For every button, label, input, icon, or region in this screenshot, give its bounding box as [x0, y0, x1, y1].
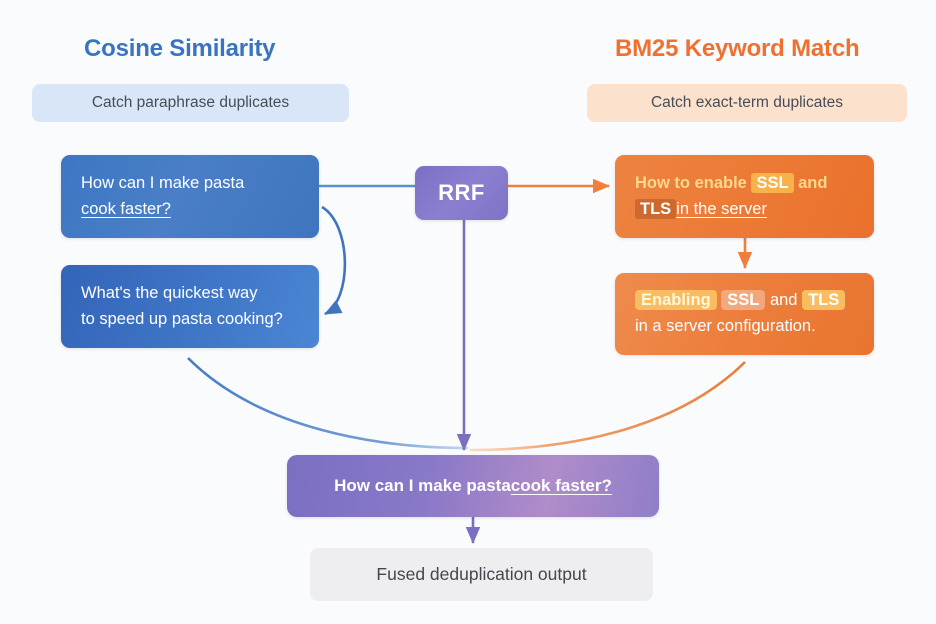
query-1-line-1: How can I make pasta: [81, 171, 299, 197]
fused-text-underlined: cook faster?: [511, 473, 612, 499]
doc-2-conjunction: and: [770, 291, 798, 309]
node-query-1[interactable]: How can I make pasta cook faster?: [61, 155, 319, 238]
node-doc-2[interactable]: Enabling SSL and TLS in a server configu…: [615, 273, 874, 355]
rrf-label: RRF: [438, 176, 485, 210]
doc-2-word-enabling: Enabling: [635, 290, 717, 310]
subtitle-pill-cosine: Catch paraphrase duplicates: [32, 84, 349, 122]
column-title-bm25: BM25 Keyword Match: [615, 35, 859, 63]
query-2-line-1: What's the quickest way: [81, 281, 299, 307]
subtitle-pill-bm25: Catch exact-term duplicates: [587, 84, 907, 122]
query-2-line-2: to speed up pasta cooking?: [81, 307, 299, 333]
column-title-cosine: Cosine Similarity: [84, 35, 275, 63]
wire-query2-to-fused: [188, 358, 468, 448]
node-rrf[interactable]: RRF: [415, 166, 508, 220]
wire-doc2-to-fused: [470, 362, 745, 450]
doc-2-line-1: Enabling SSL and TLS: [635, 288, 854, 314]
query-1-line-2: cook faster?: [81, 197, 299, 223]
wire-query1-to-query2-loop: [322, 207, 345, 314]
doc-2-token-tls: TLS: [802, 290, 845, 310]
doc-1-line-1: How to enable SSL and: [635, 171, 854, 197]
doc-1-token-ssl: SSL: [751, 173, 793, 193]
node-fused-result[interactable]: How can I make pasta cook faster?: [287, 455, 659, 517]
diagram-canvas: Cosine Similarity BM25 Keyword Match Cat…: [0, 0, 936, 624]
output-label: Fused deduplication output: [376, 561, 586, 588]
node-doc-1[interactable]: How to enable SSL and TLSin the server: [615, 155, 874, 238]
doc-1-prefix: How to enable: [635, 174, 751, 192]
doc-1-line-2: TLSin the server: [635, 197, 854, 223]
doc-1-line-2-rest: in the server: [676, 200, 767, 218]
doc-1-token-tls: TLS: [635, 199, 676, 219]
doc-1-suffix: and: [794, 174, 828, 192]
doc-2-token-ssl: SSL: [721, 290, 765, 310]
node-query-2[interactable]: What's the quickest way to speed up past…: [61, 265, 319, 348]
fused-text-prefix: How can I make pasta: [334, 473, 511, 499]
doc-2-line-2: in a server configuration.: [635, 314, 854, 340]
node-output[interactable]: Fused deduplication output: [310, 548, 653, 601]
